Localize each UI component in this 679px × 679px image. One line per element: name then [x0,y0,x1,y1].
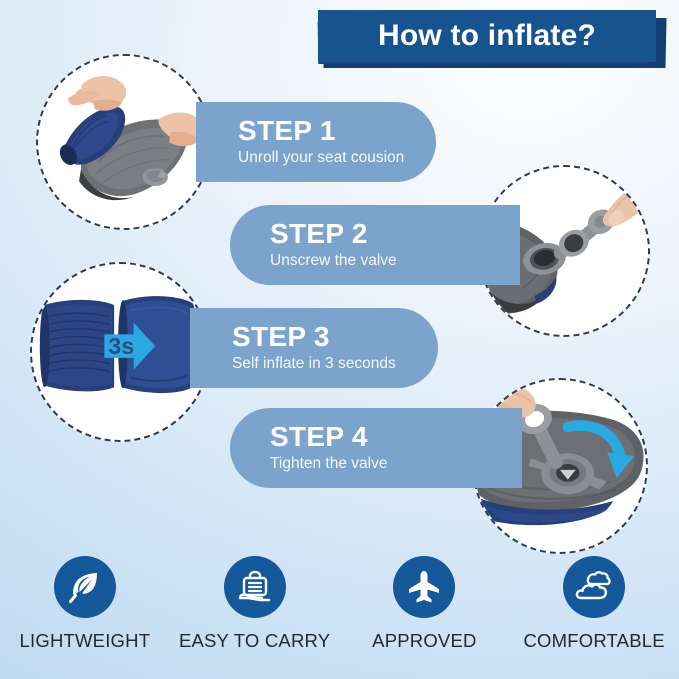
feature-label-comfortable: COMFORTABLE [523,630,664,652]
step-1-title: STEP 1 [238,116,436,145]
feature-easy-to-carry: EASY TO CARRY [175,556,335,652]
photo-circle-step-3: 3s [30,262,210,442]
feature-label-easy-to-carry: EASY TO CARRY [179,630,330,652]
clouds-icon [573,568,615,606]
feature-label-lightweight: LIGHTWEIGHT [20,630,151,652]
photo-circle-step-1 [36,54,212,230]
step-4-pill: STEP 4 Tighten the valve [230,408,522,488]
feature-label-approved: APPROVED [372,630,476,652]
photo-unrolling-cushion [38,56,210,228]
step-2-pill: STEP 2 Unscrew the valve [230,205,520,285]
airplane-icon-circle [393,556,455,618]
airplane-icon [405,568,443,606]
step-2-description: Unscrew the valve [270,252,520,271]
inflate-illustration: 3s [32,264,208,440]
feature-lightweight: LIGHTWEIGHT [5,556,165,652]
step-4-description: Tighten the valve [270,455,522,474]
unroll-illustration [38,56,210,228]
feather-icon-circle [54,556,116,618]
bag-on-hand-icon-circle [224,556,286,618]
feature-row: LIGHTWEIGHT EASY TO CARRY [0,556,679,652]
photo-self-inflate: 3s [32,264,208,440]
step-3-title: STEP 3 [232,322,438,351]
inflate-time-badge: 3s [108,333,134,359]
feature-approved: APPROVED [344,556,504,652]
step-3-pill: STEP 3 Self inflate in 3 seconds [190,308,438,388]
feature-comfortable: COMFORTABLE [514,556,674,652]
step-3-description: Self inflate in 3 seconds [232,355,438,374]
title-banner: How to inflate? [318,10,666,68]
step-4-title: STEP 4 [270,422,522,451]
feather-icon [66,568,104,606]
bag-on-hand-icon [235,567,275,607]
page-title: How to inflate? [378,19,596,53]
banner-main-box: How to inflate? [318,10,656,62]
step-2-title: STEP 2 [270,219,520,248]
clouds-icon-circle [563,556,625,618]
step-1-description: Unroll your seat cousion [238,149,436,168]
infographic-root: How to inflate? [0,0,679,679]
step-1-pill: STEP 1 Unroll your seat cousion [196,102,436,182]
